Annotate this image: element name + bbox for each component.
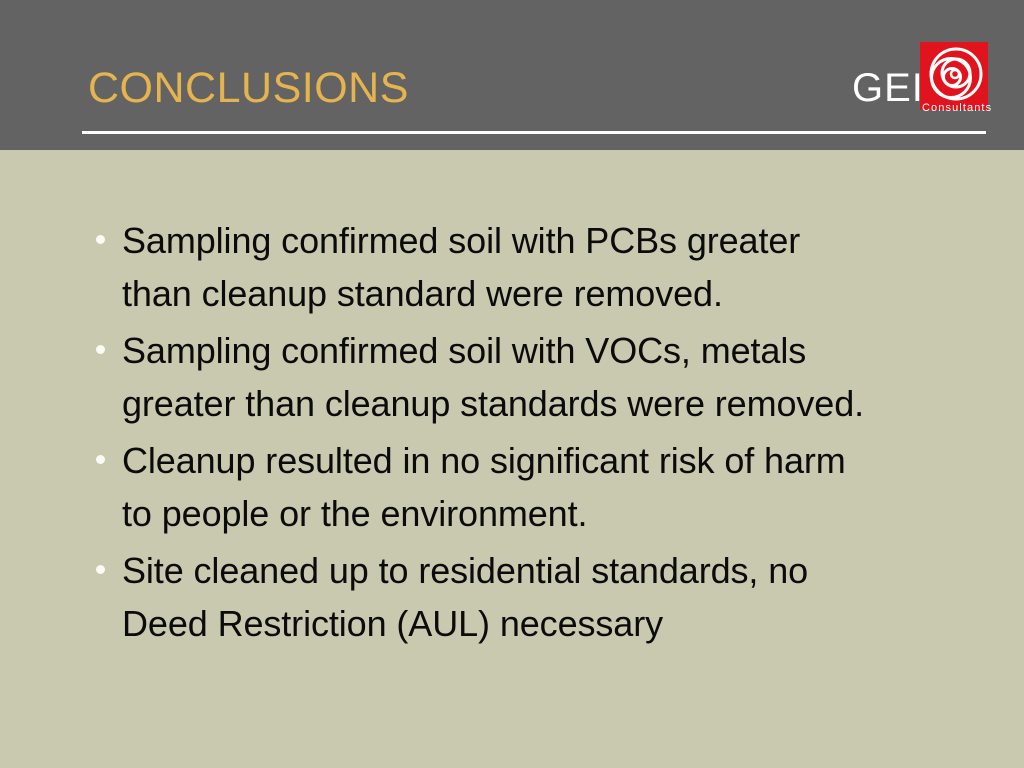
concentric-circles-spiral-icon xyxy=(920,42,988,110)
list-item: Sampling confirmed soil with PCBs greate… xyxy=(88,214,978,320)
logo-tagline: Consultants xyxy=(922,101,992,115)
list-item: Cleanup resulted in no significant risk … xyxy=(88,434,978,540)
bullet-line: Cleanup resulted in no significant risk … xyxy=(122,434,978,487)
bullet-line: greater than cleanup standards were remo… xyxy=(122,377,978,430)
bullet-point-icon xyxy=(96,565,105,574)
gei-consultants-logo: GEI Consultants xyxy=(846,30,994,122)
list-item: Sampling confirmed soil with VOCs, metal… xyxy=(88,324,978,430)
slide-header-band: CONCLUSIONS GEI Consultants xyxy=(0,0,1024,150)
bullet-line: Sampling confirmed soil with PCBs greate… xyxy=(122,214,978,267)
bullet-line: than cleanup standard were removed. xyxy=(122,267,978,320)
bullet-line: to people or the environment. xyxy=(122,487,978,540)
bullet-line: Site cleaned up to residential standards… xyxy=(122,544,978,597)
bullet-point-icon xyxy=(96,235,105,244)
page-title: CONCLUSIONS xyxy=(88,64,409,112)
bullet-line: Sampling confirmed soil with VOCs, metal… xyxy=(122,324,978,377)
bullet-point-icon xyxy=(96,455,105,464)
presentation-slide: CONCLUSIONS GEI Consultants Sampling con… xyxy=(0,0,1024,768)
list-item: Site cleaned up to residential standards… xyxy=(88,544,978,650)
bullet-line: Deed Restriction (AUL) necessary xyxy=(122,597,978,650)
bullet-point-icon xyxy=(96,345,105,354)
logo-wordmark: GEI xyxy=(852,68,924,108)
title-underline-rule xyxy=(82,131,986,134)
conclusions-bullet-list: Sampling confirmed soil with PCBs greate… xyxy=(88,214,978,654)
slide-body: Sampling confirmed soil with PCBs greate… xyxy=(0,150,1024,768)
